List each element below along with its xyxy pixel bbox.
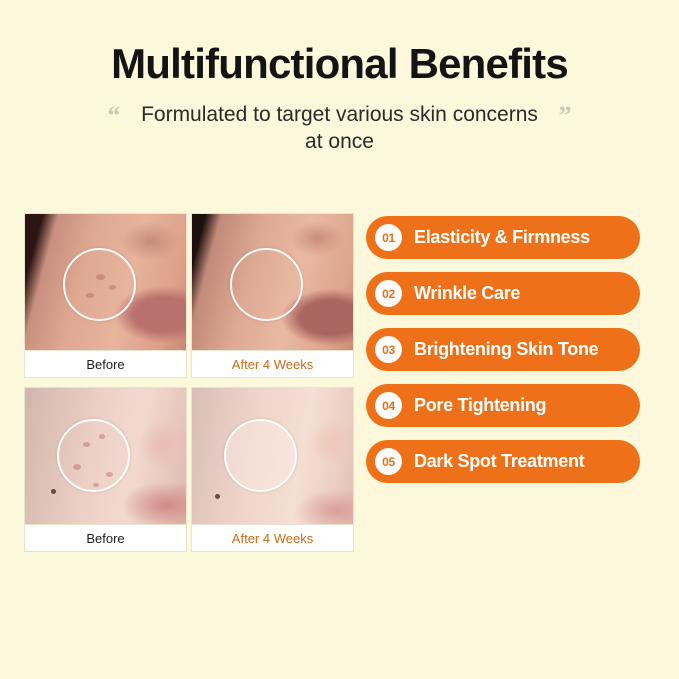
benefit-number-badge: 01 [375, 224, 402, 251]
caption-before: Before [25, 350, 186, 377]
benefit-item-elasticity-firmness[interactable]: 01 Elasticity & Firmness [366, 216, 640, 259]
quote-close-icon: ” [559, 103, 572, 129]
header: Multifunctional Benefits “ Formulated to… [0, 0, 679, 156]
benefit-item-dark-spot-treatment[interactable]: 05 Dark Spot Treatment [366, 440, 640, 483]
photo-card-before: Before [24, 387, 187, 552]
benefit-number-badge: 05 [375, 448, 402, 475]
after-photo [192, 214, 353, 350]
photo-card-after: After 4 Weeks [191, 387, 354, 552]
zoom-highlight-circle [230, 248, 303, 321]
benefit-item-wrinkle-care[interactable]: 02 Wrinkle Care [366, 272, 640, 315]
benefit-number-badge: 03 [375, 336, 402, 363]
after-photo [192, 388, 353, 524]
benefit-label: Pore Tightening [414, 395, 546, 416]
benefit-item-brightening-skin-tone[interactable]: 03 Brightening Skin Tone [366, 328, 640, 371]
quote-open-icon: “ [108, 103, 121, 129]
comparison-row: Before After 4 Weeks [24, 387, 354, 552]
before-photo [25, 388, 186, 524]
caption-after: After 4 Weeks [192, 350, 353, 377]
subtitle-block: “ Formulated to target various skin conc… [106, 101, 574, 156]
page-subtitle: Formulated to target various skin concer… [140, 101, 540, 156]
zoom-highlight-circle [63, 248, 136, 321]
caption-before: Before [25, 524, 186, 551]
page-title: Multifunctional Benefits [0, 40, 679, 87]
mole [215, 494, 220, 499]
comparison-row: Before After 4 Weeks [24, 213, 354, 378]
benefit-label: Brightening Skin Tone [414, 339, 598, 360]
benefit-item-pore-tightening[interactable]: 04 Pore Tightening [366, 384, 640, 427]
mole [51, 489, 56, 494]
benefits-list: 01 Elasticity & Firmness 02 Wrinkle Care… [366, 213, 640, 483]
before-photo [25, 214, 186, 350]
photo-card-before: Before [24, 213, 187, 378]
benefit-number-badge: 02 [375, 280, 402, 307]
zoom-highlight-circle [57, 419, 130, 492]
before-after-grid: Before After 4 Weeks [24, 213, 354, 561]
benefit-label: Dark Spot Treatment [414, 451, 584, 472]
caption-after: After 4 Weeks [192, 524, 353, 551]
zoom-highlight-circle [224, 419, 297, 492]
benefit-label: Wrinkle Care [414, 283, 520, 304]
photo-card-after: After 4 Weeks [191, 213, 354, 378]
benefit-label: Elasticity & Firmness [414, 227, 590, 248]
main-content: Before After 4 Weeks [0, 213, 679, 561]
benefit-number-badge: 04 [375, 392, 402, 419]
